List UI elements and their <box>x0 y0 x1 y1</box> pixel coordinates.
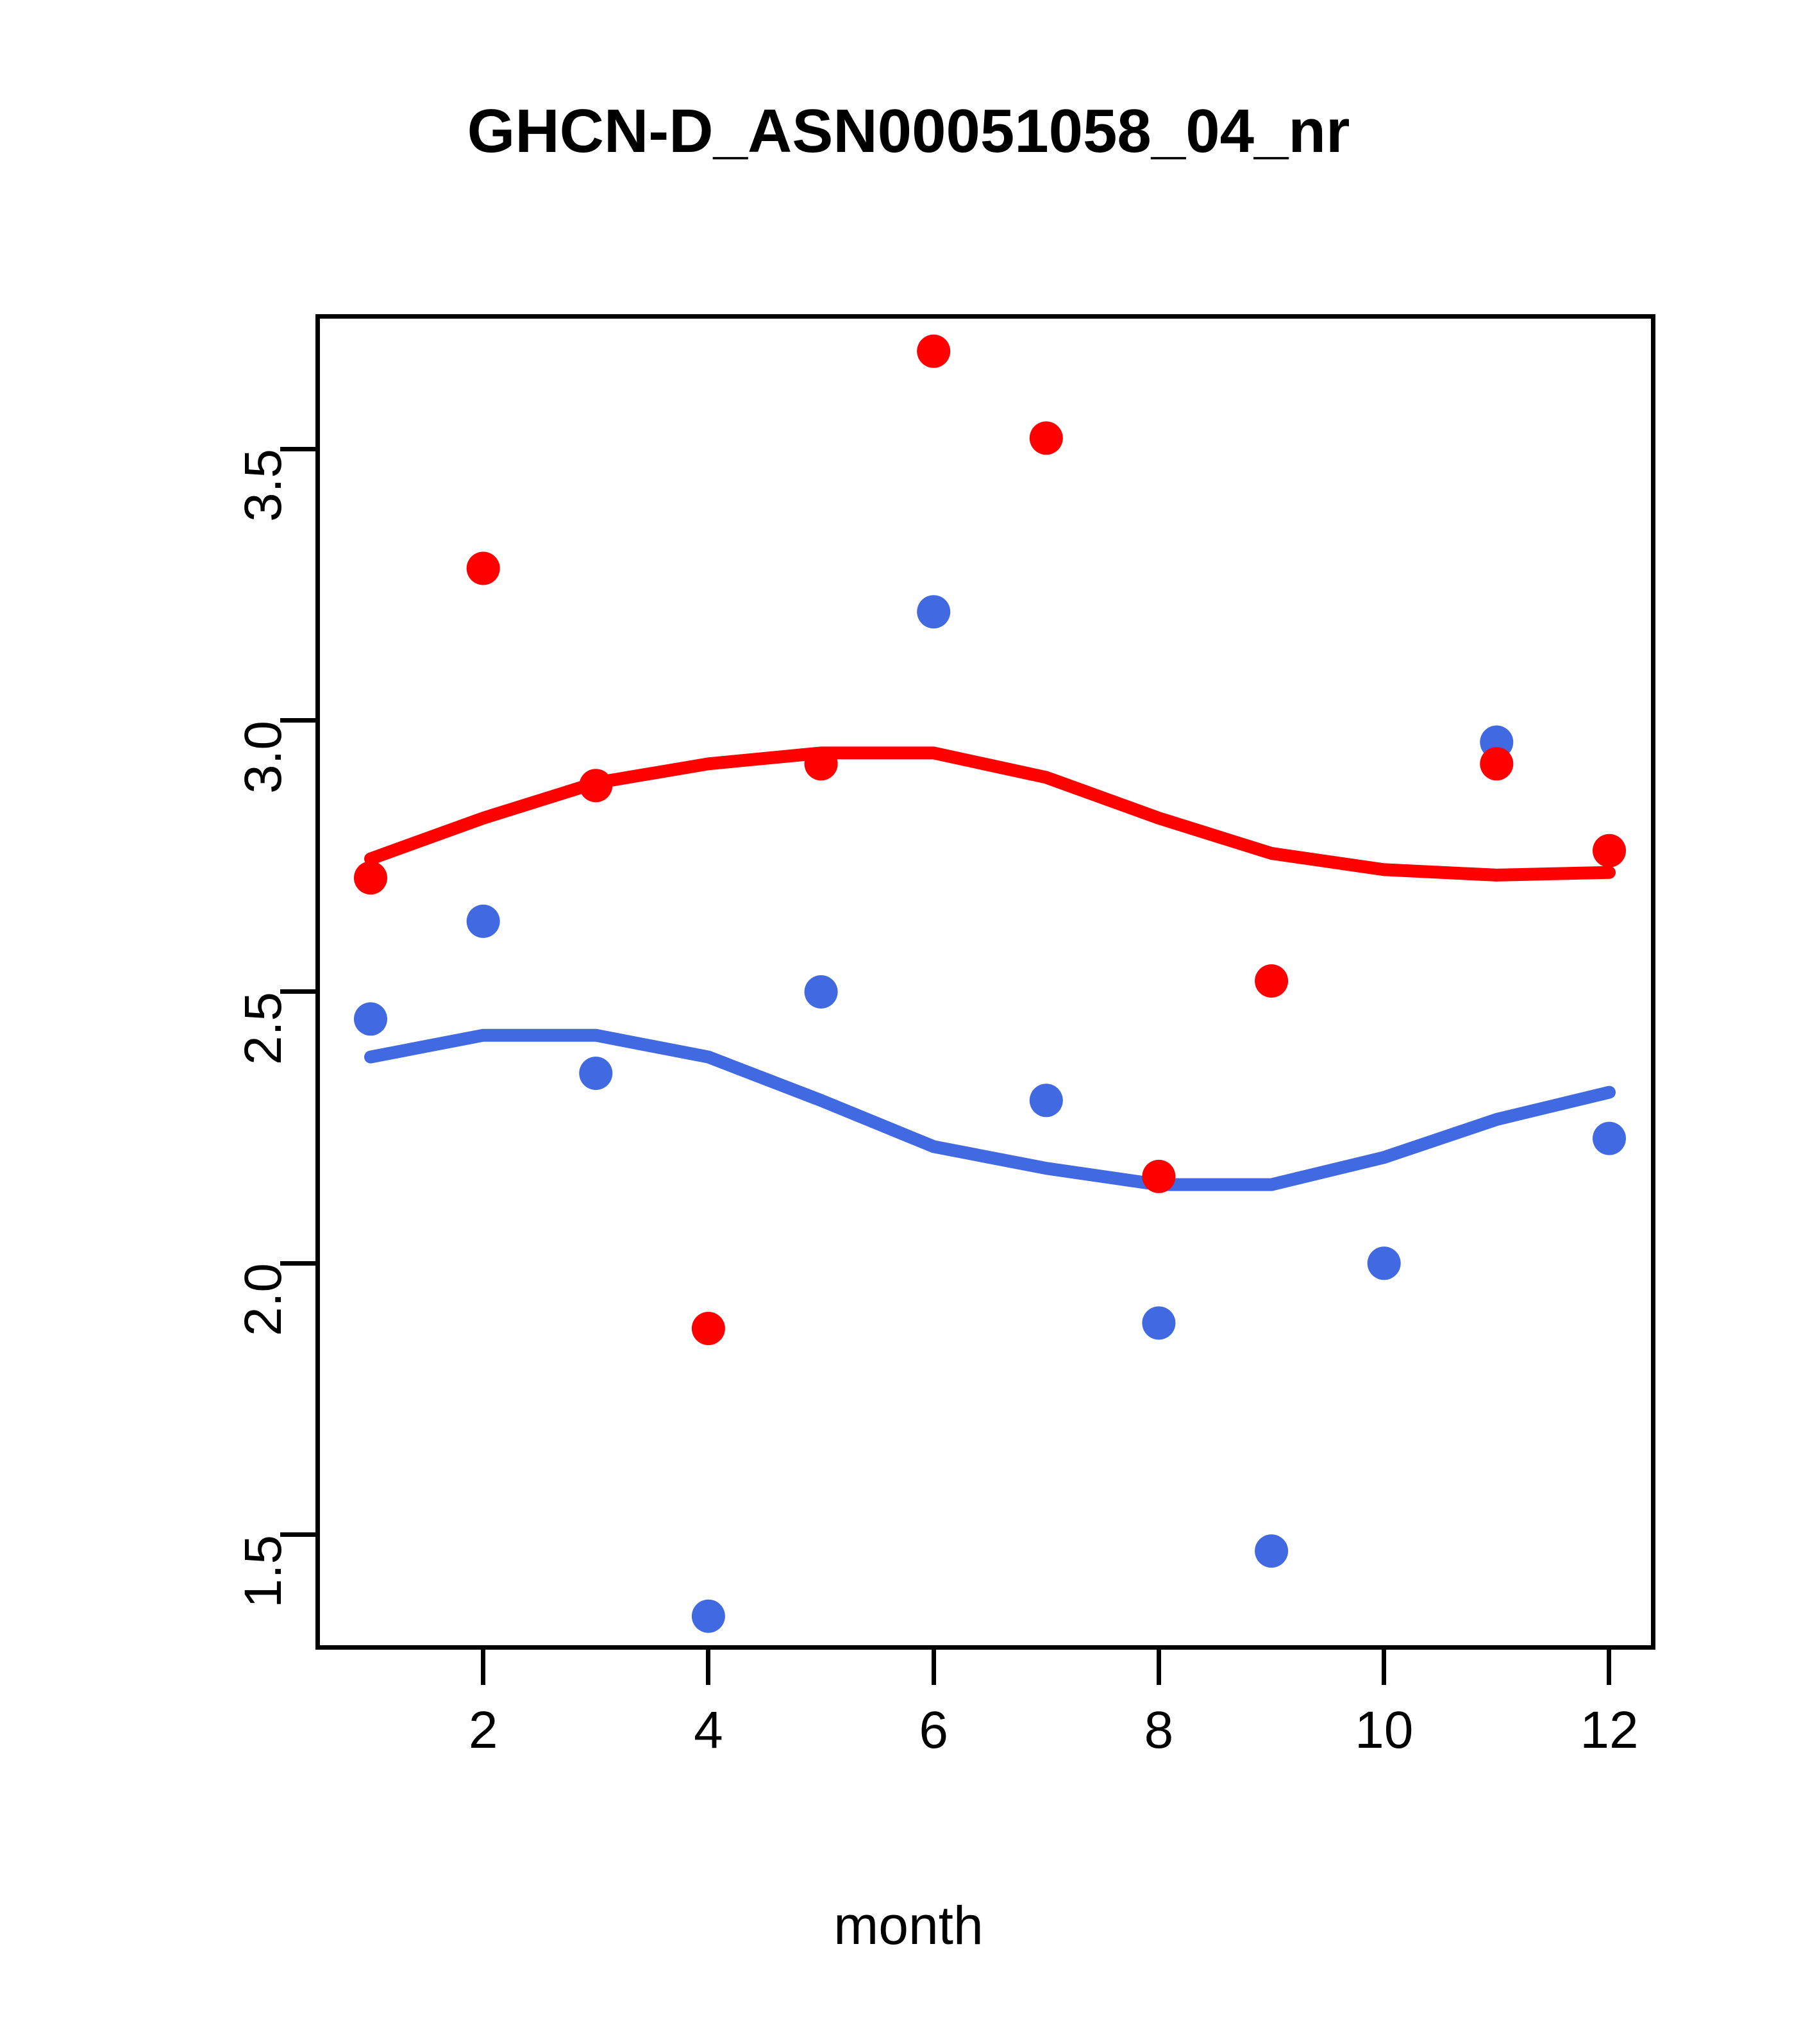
data-layer <box>320 319 1660 1654</box>
x-tick-label: 2 <box>469 1704 498 1757</box>
data-point <box>1030 421 1063 455</box>
x-tick-mark <box>481 1645 485 1685</box>
x-tick-label: 6 <box>919 1704 948 1757</box>
y-tick-label: 2.0 <box>237 1263 290 1336</box>
data-point <box>1142 1307 1175 1340</box>
y-tick-label: 2.5 <box>237 992 290 1065</box>
x-tick-mark <box>1382 1645 1386 1685</box>
figure-root: GHCN-D_ASN00051058_04_nr 1.52.02.53.03.5… <box>0 0 1817 2044</box>
x-tick-mark <box>706 1645 710 1685</box>
red-point-group <box>354 335 1626 1345</box>
data-point <box>1255 1534 1288 1568</box>
data-point <box>1030 1084 1063 1117</box>
data-point <box>467 905 500 938</box>
blue-smooth-line <box>371 1035 1609 1185</box>
data-point <box>1142 1160 1175 1193</box>
x-tick-label: 8 <box>1144 1704 1174 1757</box>
x-tick-mark <box>932 1645 936 1685</box>
x-axis-title: month <box>0 1895 1817 1957</box>
data-point <box>579 1057 612 1090</box>
data-point <box>805 747 838 780</box>
data-point <box>1255 964 1288 998</box>
x-tick-label: 4 <box>694 1704 723 1757</box>
page-title: GHCN-D_ASN00051058_04_nr <box>0 96 1817 167</box>
plot-area <box>320 319 1651 1645</box>
x-tick-label: 10 <box>1355 1704 1413 1757</box>
x-tick-mark <box>1157 1645 1161 1685</box>
data-point <box>692 1312 725 1345</box>
data-point <box>467 552 500 585</box>
blue-point-group <box>354 595 1626 1633</box>
data-point <box>579 769 612 802</box>
data-point <box>692 1600 725 1633</box>
y-tick-label: 3.0 <box>237 721 290 794</box>
data-point <box>1593 834 1626 867</box>
data-point <box>1480 747 1513 780</box>
data-point <box>805 975 838 1009</box>
data-point <box>354 1002 387 1035</box>
data-point <box>354 861 387 894</box>
plot-box: 1.52.02.53.03.5 24681012 <box>315 314 1655 1650</box>
data-point <box>917 335 950 368</box>
y-tick-label: 1.5 <box>237 1535 290 1608</box>
red-smooth-line <box>371 753 1609 875</box>
data-point <box>1593 1122 1626 1155</box>
data-point <box>1368 1246 1401 1280</box>
x-tick-label: 12 <box>1580 1704 1638 1757</box>
data-point <box>917 595 950 628</box>
y-tick-label: 3.5 <box>237 449 290 522</box>
x-tick-mark <box>1607 1645 1611 1685</box>
